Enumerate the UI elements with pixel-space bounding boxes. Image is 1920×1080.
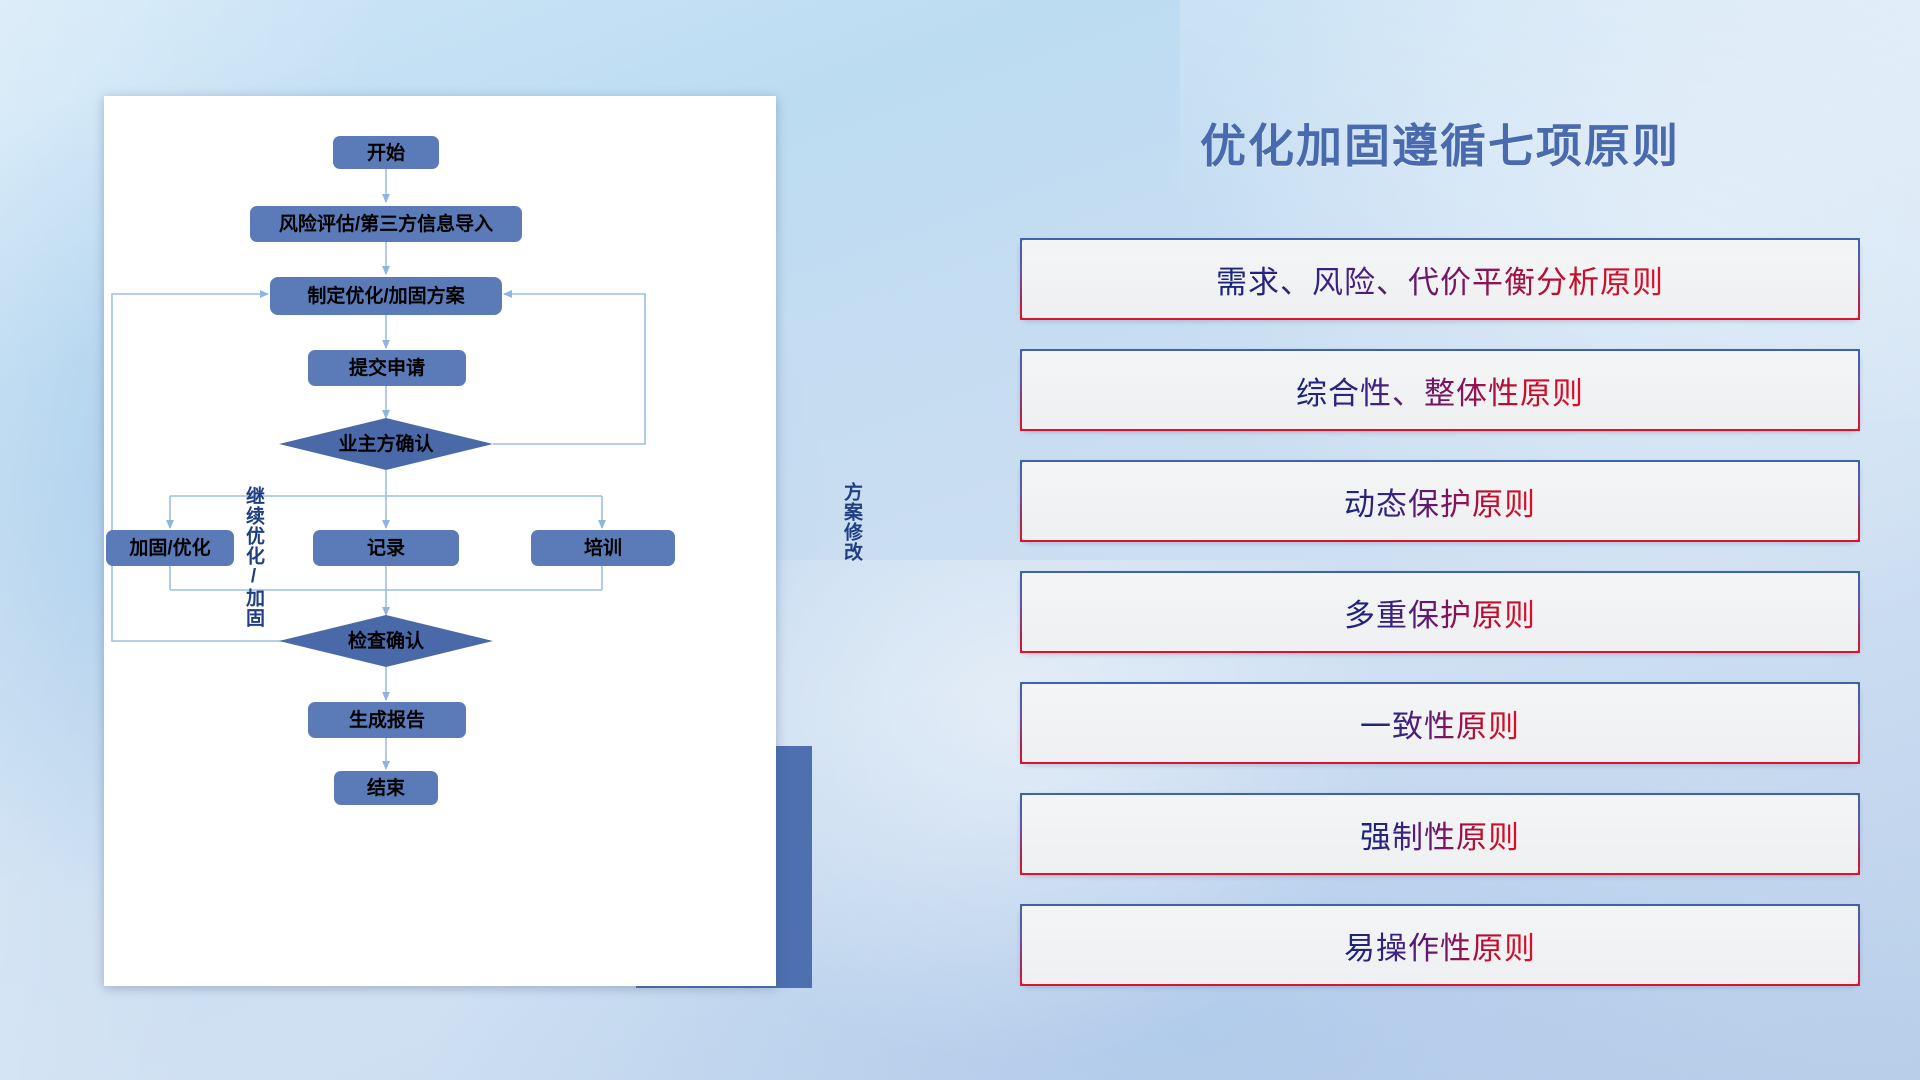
flow-node-start-label: 开始 <box>367 141 405 164</box>
flow-node-start[interactable]: 开始 <box>333 136 439 169</box>
principle-box[interactable]: 一致性原则 <box>1020 682 1860 764</box>
flow-node-submit-label: 提交申请 <box>349 356 425 379</box>
principle-row[interactable]: 综合性、整体性原则 <box>1020 349 1860 439</box>
flow-node-owner-confirm[interactable]: 业主方确认 <box>279 418 493 470</box>
flow-node-report[interactable]: 生成报告 <box>308 702 466 738</box>
flow-node-check-confirm-label: 检查确认 <box>348 629 424 652</box>
principle-row[interactable]: 需求、风险、代价平衡分析原则 <box>1020 238 1860 328</box>
principle-box[interactable]: 综合性、整体性原则 <box>1020 349 1860 431</box>
panel-title: 优化加固遵循七项原则 <box>1020 110 1860 176</box>
flow-node-training-label: 培训 <box>584 536 622 559</box>
principle-label: 易操作性原则 <box>1344 923 1536 968</box>
flow-node-risk-label: 风险评估/第三方信息导入 <box>279 212 493 235</box>
principle-label: 动态保护原则 <box>1344 479 1536 524</box>
flow-node-report-label: 生成报告 <box>349 708 425 731</box>
principle-row[interactable]: 易操作性原则 <box>1020 904 1860 994</box>
principle-row[interactable]: 动态保护原则 <box>1020 460 1860 550</box>
principle-box[interactable]: 动态保护原则 <box>1020 460 1860 542</box>
principle-label: 多重保护原则 <box>1344 590 1536 635</box>
principle-row[interactable]: 多重保护原则 <box>1020 571 1860 661</box>
flow-node-reinforce[interactable]: 加固/优化 <box>106 530 234 566</box>
flow-node-end-label: 结束 <box>367 776 406 799</box>
flowchart-diagram: 开始 风险评估/第三方信息导入 制定优化/加固方案 提交申请 业主方确认 加固/… <box>104 96 776 986</box>
principle-label: 一致性原则 <box>1360 701 1520 746</box>
flow-node-owner-confirm-label: 业主方确认 <box>338 432 433 455</box>
flowchart-card: 开始 风险评估/第三方信息导入 制定优化/加固方案 提交申请 业主方确认 加固/… <box>104 96 776 986</box>
principles-list: 需求、风险、代价平衡分析原则 综合性、整体性原则 动态保护原则 多重保护原则 一… <box>1020 238 1860 1015</box>
principle-box[interactable]: 强制性原则 <box>1020 793 1860 875</box>
flow-loop-label-right: 方案修改 <box>842 482 861 562</box>
flow-node-reinforce-label: 加固/优化 <box>128 536 210 559</box>
flow-node-training[interactable]: 培训 <box>531 530 675 566</box>
flow-node-record[interactable]: 记录 <box>313 530 459 566</box>
principle-label: 综合性、整体性原则 <box>1296 368 1584 413</box>
flow-node-submit[interactable]: 提交申请 <box>308 350 466 386</box>
principle-box[interactable]: 多重保护原则 <box>1020 571 1860 653</box>
principle-row[interactable]: 强制性原则 <box>1020 793 1860 883</box>
flow-node-plan[interactable]: 制定优化/加固方案 <box>270 277 502 315</box>
principles-panel: 优化加固遵循七项原则 需求、风险、代价平衡分析原则 综合性、整体性原则 动态保护… <box>1020 96 1860 1036</box>
flow-node-risk[interactable]: 风险评估/第三方信息导入 <box>250 206 522 242</box>
flow-loop-label-left: 继续优化/加固 <box>244 486 263 628</box>
principle-box[interactable]: 易操作性原则 <box>1020 904 1860 986</box>
principle-box[interactable]: 需求、风险、代价平衡分析原则 <box>1020 238 1860 320</box>
flow-node-check-confirm[interactable]: 检查确认 <box>279 615 493 667</box>
flow-node-record-label: 记录 <box>367 537 405 559</box>
flow-node-plan-label: 制定优化/加固方案 <box>307 284 465 307</box>
principle-row[interactable]: 一致性原则 <box>1020 682 1860 772</box>
principle-label: 强制性原则 <box>1360 812 1520 857</box>
principle-label: 需求、风险、代价平衡分析原则 <box>1216 257 1664 302</box>
flow-node-end[interactable]: 结束 <box>334 771 438 805</box>
